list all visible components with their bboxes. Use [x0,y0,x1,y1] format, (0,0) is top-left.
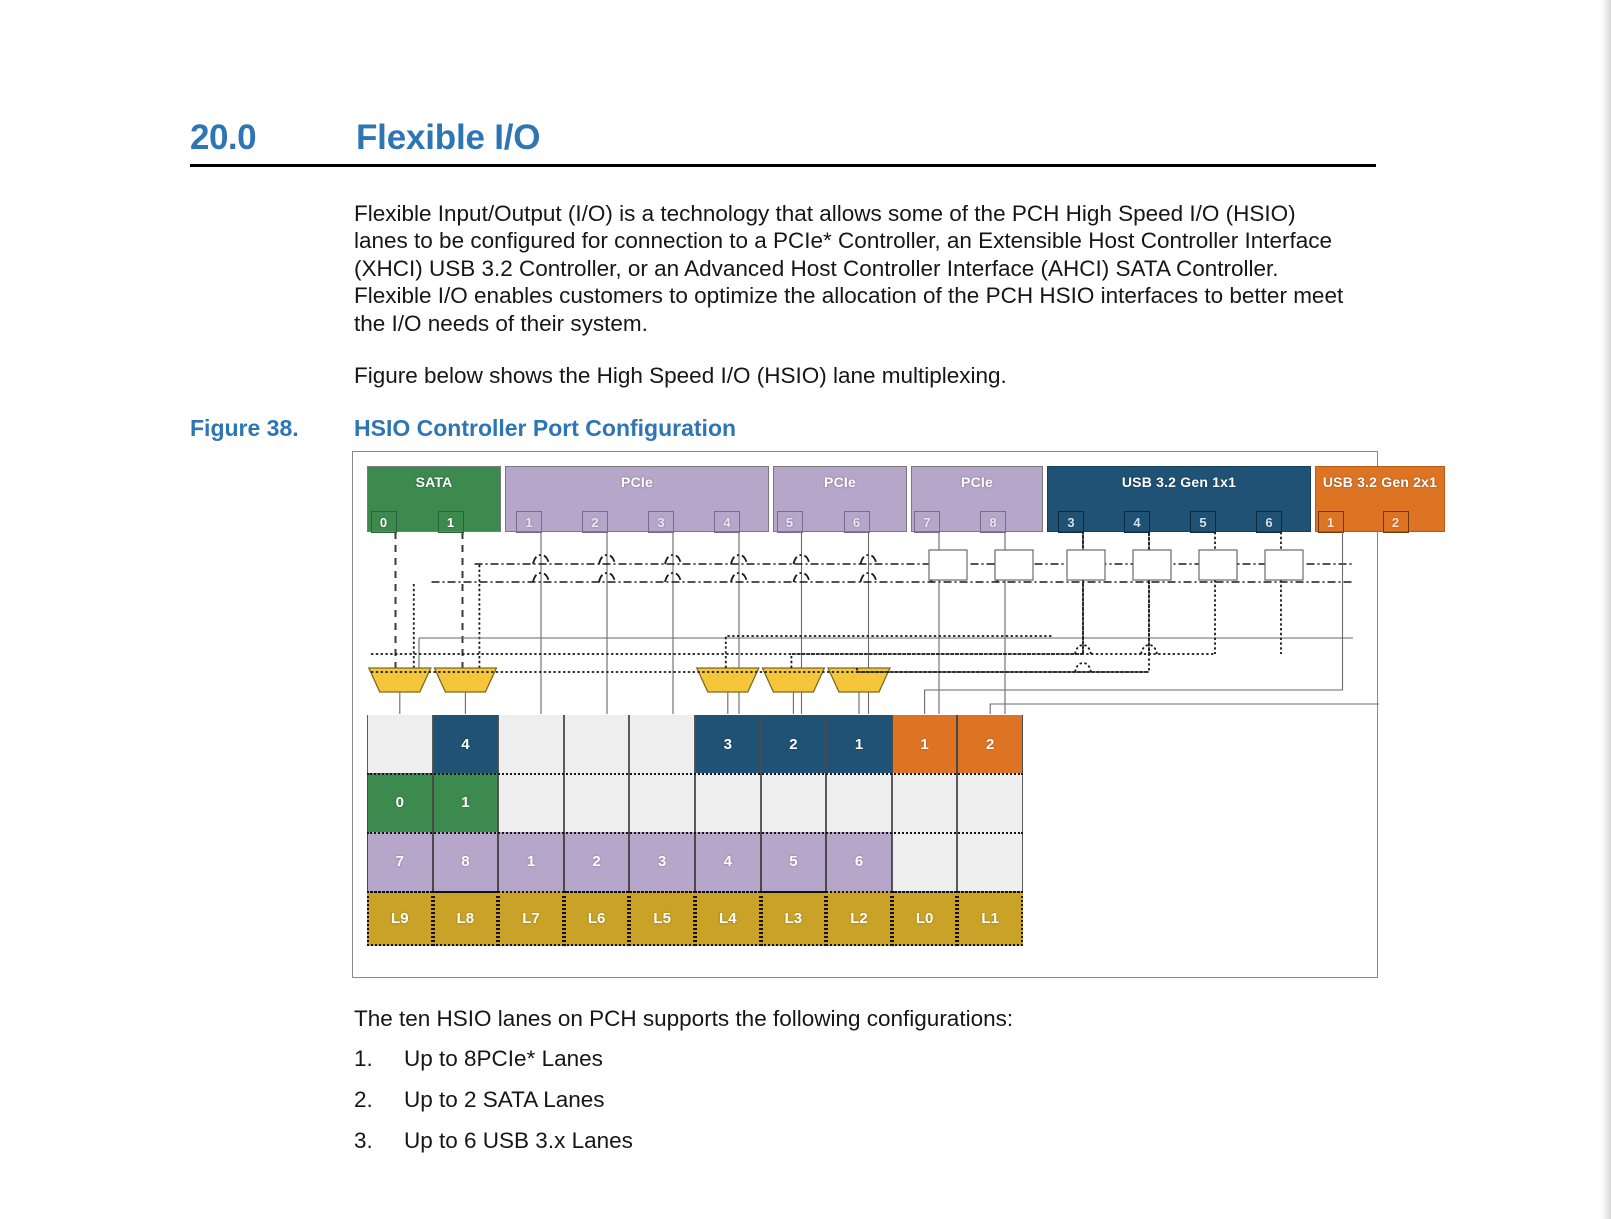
sata-cell-L9[interactable]: 0 [367,773,433,832]
section-title: Flexible I/O [356,118,540,158]
sata-cell-L3[interactable] [761,773,827,832]
sata-cell-L6[interactable] [564,773,630,832]
usb-cell-L7[interactable] [498,715,564,774]
config-list-item: 2.Up to 2 SATA Lanes [354,1086,1254,1113]
matrix-row-separator-0 [367,773,1023,775]
lane-cell-L8[interactable]: L8 [433,891,499,946]
pcie-cell-L7[interactable]: 1 [498,832,564,891]
list-item-number: 3. [354,1127,404,1154]
sata-cell-L5[interactable] [629,773,695,832]
usb-cell-L6[interactable] [564,715,630,774]
usb-cell-L5[interactable] [629,715,695,774]
pcie-cell-L4[interactable]: 4 [695,832,761,891]
page-edge-shadow [1600,0,1611,1219]
usb-cell-L0[interactable]: 1 [892,715,958,774]
hsio-figure: SATA01PCIe1234PCIe56PCIe78USB 3.2 Gen 1x… [352,451,1378,978]
figure-title: HSIO Controller Port Configuration [354,415,736,442]
usb-cell-L2[interactable]: 1 [826,715,892,774]
section-number: 20.0 [190,118,356,158]
matrix-row-separator-2 [367,891,1023,893]
lane-cell-L5[interactable]: L5 [629,891,695,946]
matrix-row-separator-1 [367,832,1023,834]
lane-cell-L9[interactable]: L9 [367,891,433,946]
lane-cell-L7[interactable]: L7 [498,891,564,946]
pcie-cell-L6[interactable]: 2 [564,832,630,891]
pcie-cell-L2[interactable]: 6 [826,832,892,891]
footer-intro: The ten HSIO lanes on PCH supports the f… [354,1005,1354,1032]
config-list-item: 1.Up to 8PCIe* Lanes [354,1045,1254,1072]
intro-paragraph: Flexible Input/Output (I/O) is a technol… [354,200,1354,337]
lane-cell-L3[interactable]: L3 [761,891,827,946]
lane-cell-L2[interactable]: L2 [826,891,892,946]
sata-cell-L0[interactable] [892,773,958,832]
sata-cell-L1[interactable] [957,773,1023,832]
section-heading: 20.0 Flexible I/O [190,118,1376,167]
usb-cell-L9[interactable] [367,715,433,774]
lane-cell-L0[interactable]: L0 [892,891,958,946]
usb-cell-L3[interactable]: 2 [761,715,827,774]
lane-cell-L6[interactable]: L6 [564,891,630,946]
sata-cell-L2[interactable] [826,773,892,832]
sata-cell-L7[interactable] [498,773,564,832]
configuration-list: 1.Up to 8PCIe* Lanes2.Up to 2 SATA Lanes… [354,1045,1254,1168]
usb-cell-L1[interactable]: 2 [957,715,1023,774]
pcie-cell-L3[interactable]: 5 [761,832,827,891]
pcie-cell-L5[interactable]: 3 [629,832,695,891]
pcie-cell-L8[interactable]: 8 [433,832,499,891]
usb-cell-L8[interactable]: 4 [433,715,499,774]
sata-cell-L8[interactable]: 1 [433,773,499,832]
figure-lead-paragraph: Figure below shows the High Speed I/O (H… [354,362,1354,389]
controller-port-usb2-2[interactable]: 2 [1383,511,1409,533]
figure-caption: Figure 38. HSIO Controller Port Configur… [190,415,736,442]
config-list-item: 3.Up to 6 USB 3.x Lanes [354,1127,1254,1154]
lane-cell-L1[interactable]: L1 [957,891,1023,946]
list-item-number: 1. [354,1045,404,1072]
list-item-number: 2. [354,1086,404,1113]
sata-cell-L4[interactable] [695,773,761,832]
pcie-cell-L1[interactable] [957,832,1023,891]
list-item-text: Up to 6 USB 3.x Lanes [404,1127,633,1154]
list-item-text: Up to 2 SATA Lanes [404,1086,605,1113]
figure-label: Figure 38. [190,415,354,442]
lane-cell-L4[interactable]: L4 [695,891,761,946]
list-item-text: Up to 8PCIe* Lanes [404,1045,603,1072]
pcie-cell-L9[interactable]: 7 [367,832,433,891]
usb-cell-L4[interactable]: 3 [695,715,761,774]
pcie-cell-L0[interactable] [892,832,958,891]
section-rule [190,164,1376,167]
